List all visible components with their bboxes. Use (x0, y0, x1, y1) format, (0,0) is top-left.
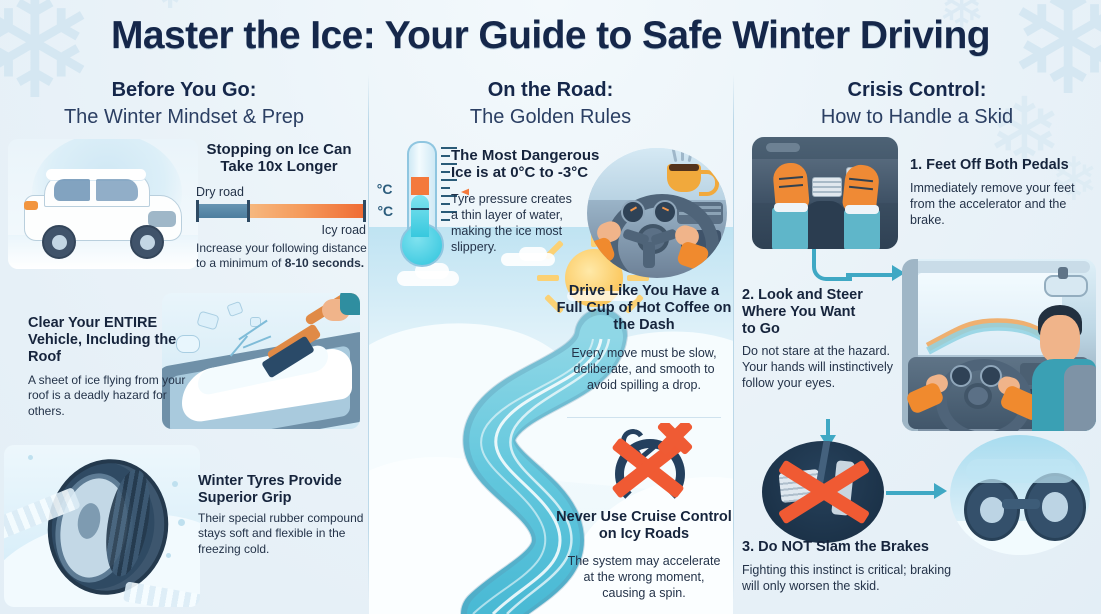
cruise-control-crossed-icon (599, 423, 695, 499)
tip-feet-off-pedals: 1. Feet Off Both Pedals Immediately remo… (910, 157, 1100, 228)
bar-segment-icy (247, 204, 366, 218)
flow-arrow-3-head (934, 483, 947, 499)
column-heading-title: Crisis Control: (733, 79, 1101, 102)
infographic-root: ❄ ❄ ❄ ❄ ❄ ❄ Master the Ice: Your Guide t… (0, 0, 1101, 614)
column-heading-crisis-control: Crisis Control: How to Handle a Skid (733, 79, 1101, 129)
winter-tyre-illustration (4, 445, 200, 607)
bar-cap-end (363, 200, 366, 222)
driver-head (1040, 315, 1080, 363)
column-heading-subtitle: How to Handle a Skid (733, 106, 1101, 129)
flow-arrow-3-line (886, 491, 936, 495)
tip-body: Tyre pressure creates a thin layer of wa… (451, 191, 575, 255)
tip-look-and-steer: 2. Look and Steer Where You Want to Go D… (742, 287, 912, 391)
brush-clearing-snow-illustration (162, 293, 360, 429)
chart-label-icy-road: Icy road (196, 223, 366, 237)
tip-title: Stopping on Ice Can Take 10x Longer (196, 141, 362, 176)
column-heading-subtitle: The Golden Rules (368, 106, 733, 129)
page-title: Master the Ice: Your Guide to Safe Winte… (0, 14, 1101, 58)
tip-never-cruise-control: Never Use Cruise Control on Icy Roads Th… (555, 423, 733, 613)
thermometer-label-lower: -3°C (377, 203, 393, 219)
bar-segment-dry (196, 204, 247, 218)
column-heading-before-you-go: Before You Go: The Winter Mindset & Prep (0, 79, 368, 129)
column-on-the-road: 0°C -3°C The Most Dangerous Ice is at 0°… (369, 135, 733, 614)
flow-arrow-1-line (846, 273, 894, 277)
tip-do-not-slam-brakes: 3. Do NOT Slam the Brakes Fighting this … (742, 539, 972, 594)
tip-title: Winter Tyres Provide Superior Grip (198, 473, 364, 507)
steering-wheel-coffee-illustration (587, 148, 727, 278)
tip-body: Do not stare at the hazard. Your hands w… (742, 343, 900, 391)
tip-drive-like-coffee: Drive Like You Have a Full Cup of Hot Co… (555, 283, 733, 399)
snow-covered-suv-illustration (8, 139, 198, 269)
tip-stopping-on-ice: Stopping on Ice Can Take 10x Longer Dry … (0, 135, 368, 275)
tip-title: 1. Feet Off Both Pedals (910, 157, 1100, 174)
column-heading-title: Before You Go: (0, 79, 368, 102)
column-crisis-control: 1. Feet Off Both Pedals Immediately remo… (734, 135, 1101, 614)
stopping-distance-chart: Dry road Icy road (196, 185, 366, 199)
tip-title: Never Use Cruise Control on Icy Roads (555, 509, 733, 543)
chart-label-dry-road: Dry road (196, 185, 366, 199)
bar-cap-mid (247, 200, 250, 222)
tip-body-strong: 8-10 seconds. (285, 256, 364, 270)
column-heading-title: On the Road: (368, 79, 733, 102)
thermometer-label-upper: 0°C (377, 181, 393, 197)
tyres-illustration (950, 435, 1090, 555)
section-separator (567, 417, 721, 418)
tip-title: The Most Dangerous Ice is at 0°C to -3°C (451, 147, 601, 182)
tip-winter-tyres: Winter Tyres Provide Superior Grip Their… (0, 445, 368, 610)
driver-windshield-illustration (902, 259, 1096, 431)
tip-clear-entire-vehicle: Clear Your ENTIRE Vehicle, Including the… (0, 293, 368, 438)
column-before-you-go: Stopping on Ice Can Take 10x Longer Dry … (0, 135, 368, 614)
tip-body: Every move must be slow, deliberate, and… (559, 345, 729, 393)
tip-title: Drive Like You Have a Full Cup of Hot Co… (555, 283, 733, 333)
bar-cap-start (196, 200, 199, 222)
column-heading-subtitle: The Winter Mindset & Prep (0, 106, 368, 129)
tip-title: 3. Do NOT Slam the Brakes (742, 539, 972, 556)
brake-crossed-illustration (762, 441, 884, 543)
tip-body: Fighting this instinct is critical; brak… (742, 562, 956, 594)
tip-body: Immediately remove your feet from the ac… (910, 180, 1080, 228)
tip-body: Their special rubber compound stays soft… (198, 511, 366, 557)
tip-body: A sheet of ice flying from your roof is … (28, 373, 186, 419)
tip-title: Clear Your ENTIRE Vehicle, Including the… (28, 315, 178, 365)
column-heading-on-the-road: On the Road: The Golden Rules (368, 79, 733, 129)
distance-bar (196, 204, 366, 218)
column-headings: Before You Go: The Winter Mindset & Prep… (0, 79, 1101, 135)
tip-body: Increase your following distance to a mi… (196, 241, 368, 272)
feet-off-pedals-illustration (752, 137, 898, 249)
tip-body: The system may accelerate at the wrong m… (561, 553, 727, 601)
tip-title: 2. Look and Steer Where You Want to Go (742, 287, 866, 337)
